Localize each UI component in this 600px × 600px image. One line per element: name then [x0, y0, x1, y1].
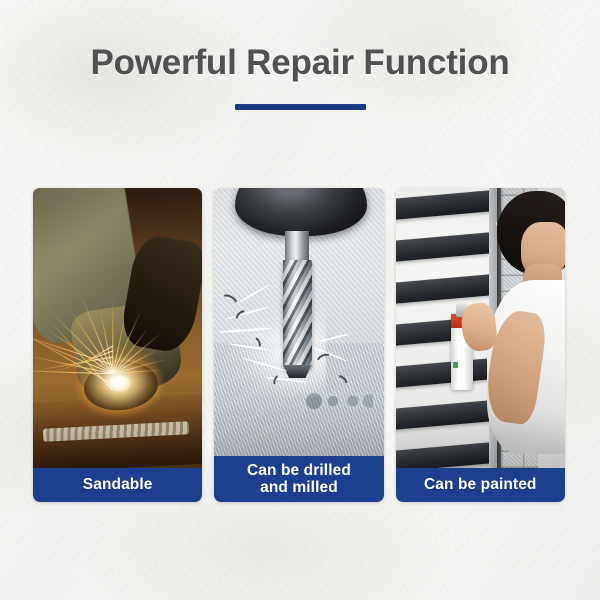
caption-text-line1: Can be drilled: [247, 462, 351, 479]
caption-text-line1: Can be painted: [424, 476, 537, 493]
spark-burst: [33, 188, 202, 468]
feature-card-sandable[interactable]: Sandable: [33, 188, 202, 502]
photo-spray-painting: [396, 188, 565, 468]
page-title: Powerful Repair Function: [0, 44, 600, 82]
caption-bar-sandable: Sandable: [33, 468, 202, 502]
photo-grinder-sparks: [33, 188, 202, 468]
header: Powerful Repair Function: [0, 44, 600, 110]
caption-bar-painted: Can be painted: [396, 468, 565, 502]
photo-endmill-drilling: [214, 188, 383, 456]
feature-card-drilled-milled[interactable]: Can be drilled and milled: [214, 188, 383, 502]
title-underline-rule: [235, 104, 366, 110]
caption-text-line2: and milled: [247, 479, 351, 496]
feature-card-painted[interactable]: Can be painted: [396, 188, 565, 502]
feature-card-row: Sandable: [33, 188, 565, 502]
caption-bar-drilled-milled: Can be drilled and milled: [214, 456, 383, 502]
product-feature-page: Powerful Repair Function: [0, 0, 600, 600]
caption-text-line1: Sandable: [83, 476, 153, 493]
